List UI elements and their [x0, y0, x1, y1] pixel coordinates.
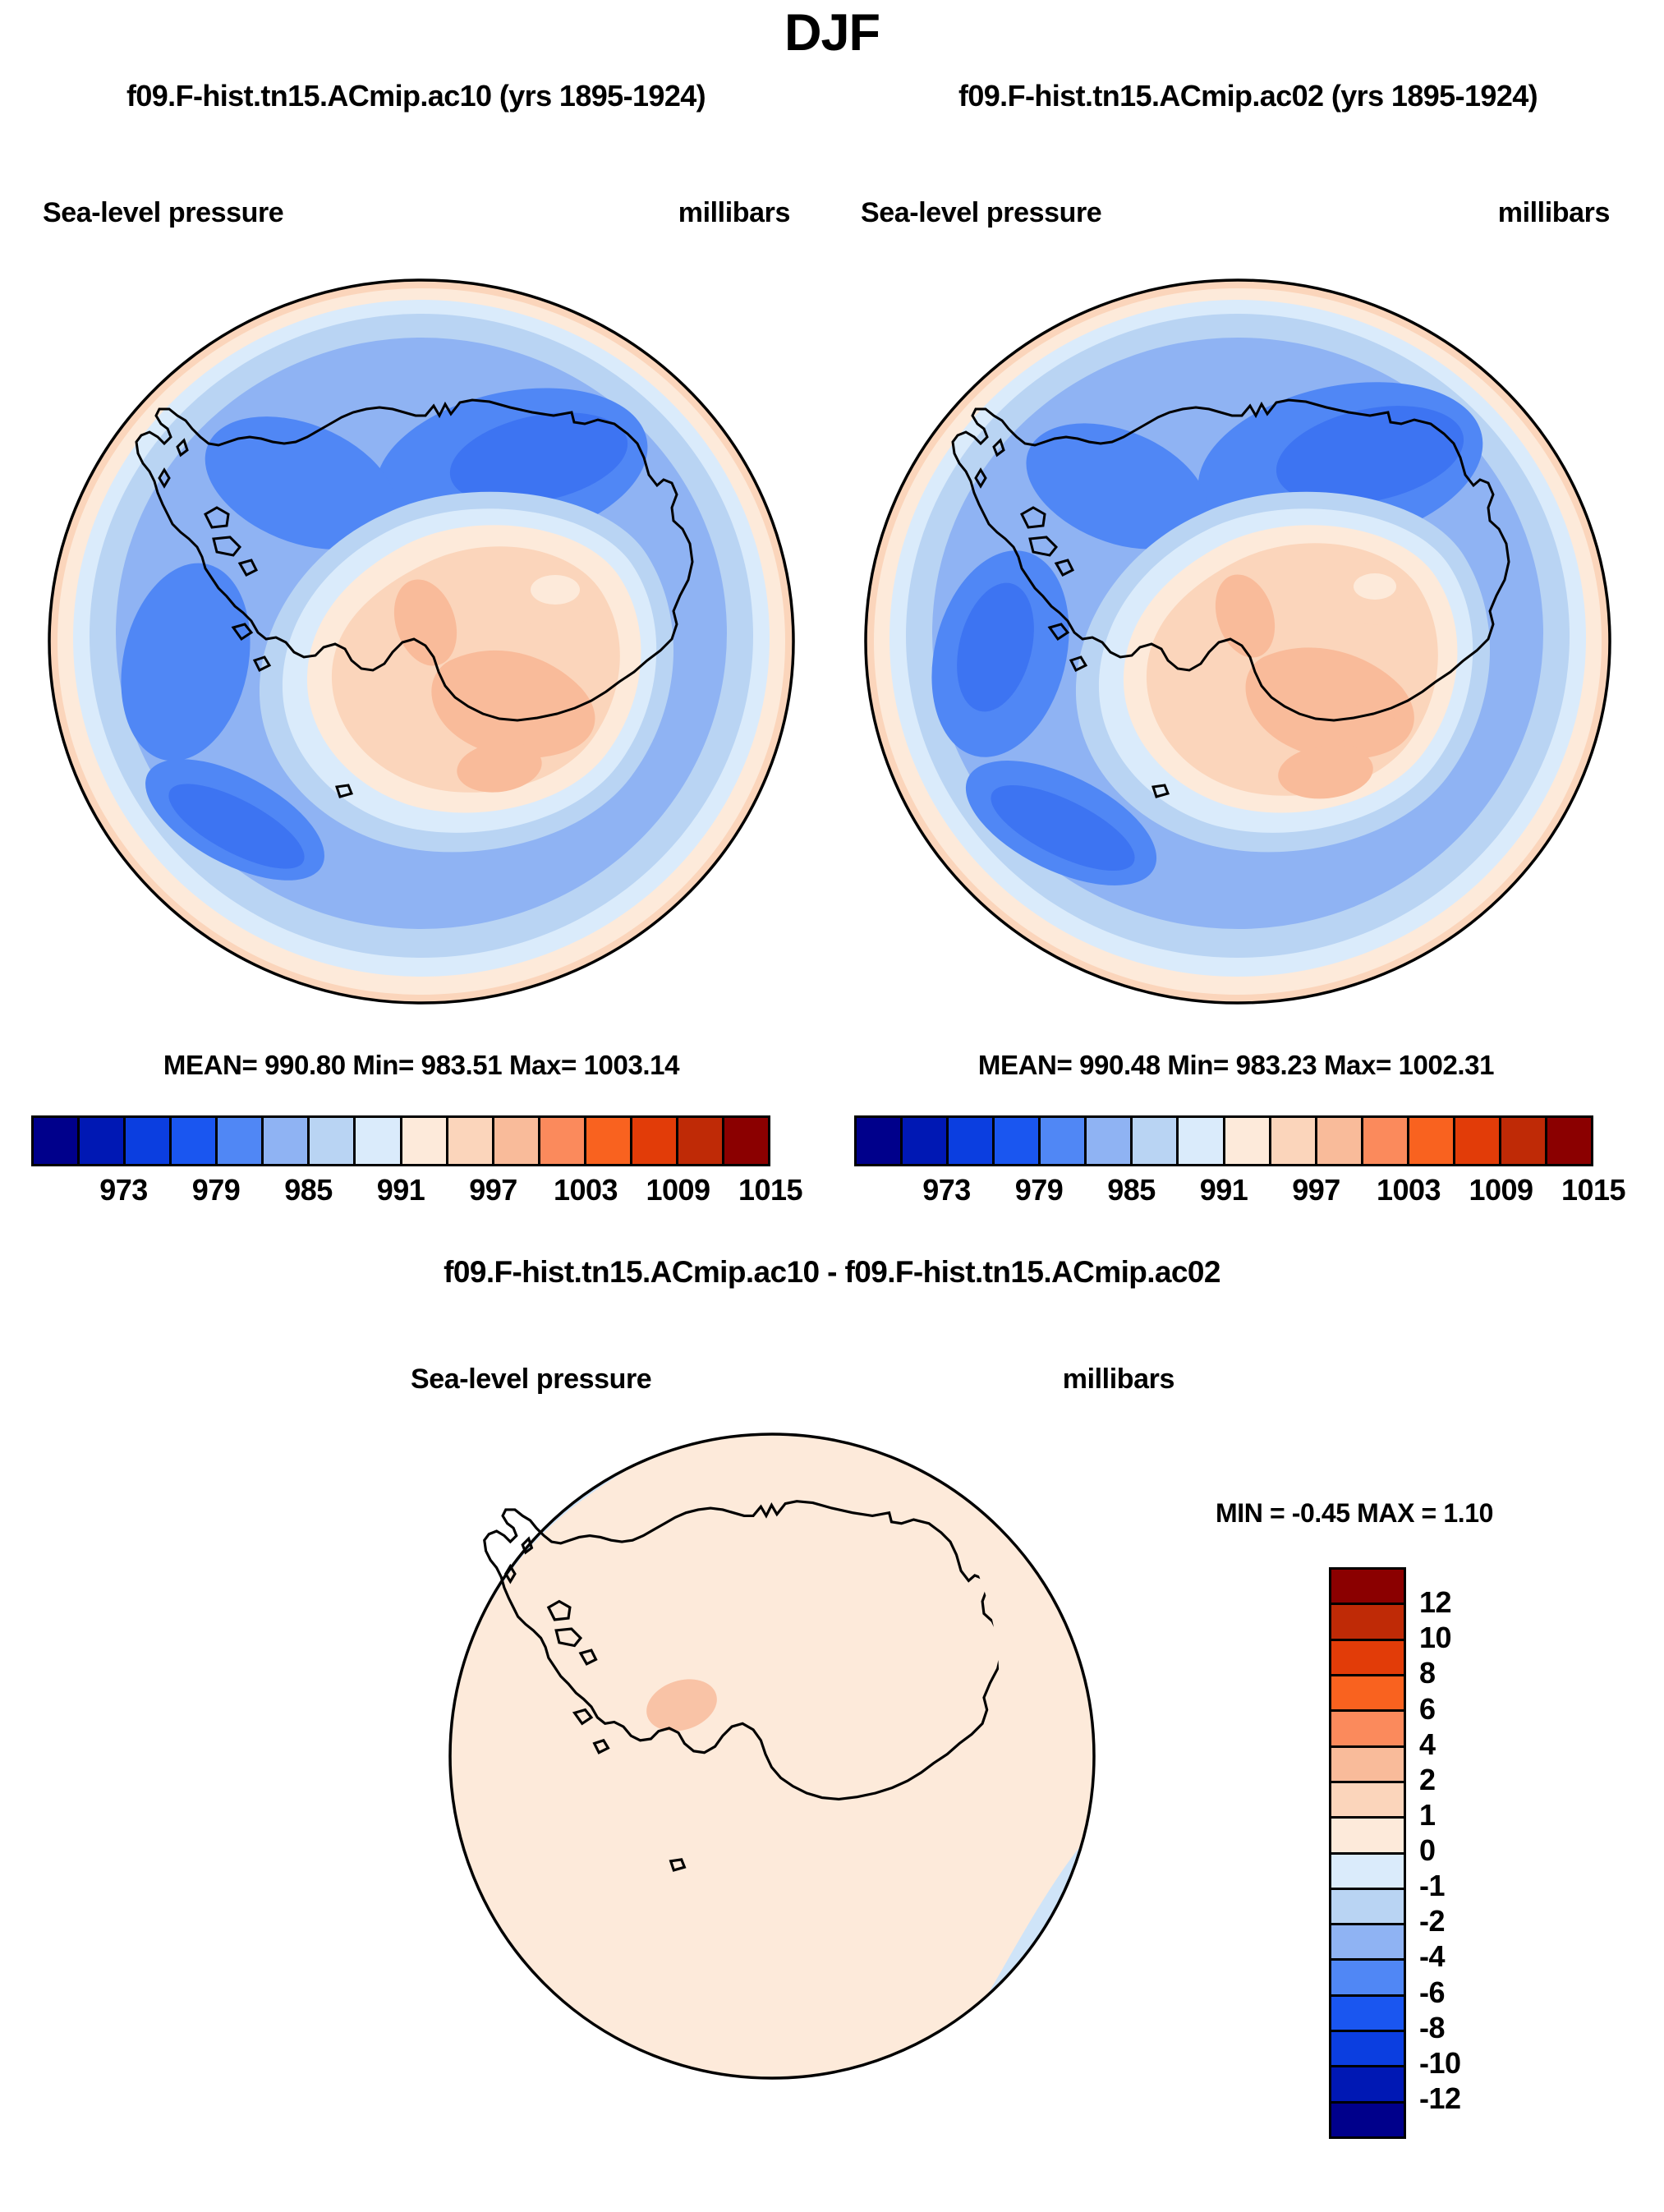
colorbar-tick-label: 12	[1419, 1585, 1451, 1620]
units-label-left: millibars	[678, 197, 790, 229]
colorbar-cell	[1331, 1676, 1404, 1712]
colorbar-cell	[1331, 1819, 1404, 1854]
colorbar-cell	[1501, 1118, 1547, 1164]
colorbar-cell	[1331, 1890, 1404, 1925]
colorbar-tick-label: 1015	[1561, 1173, 1625, 1207]
colorbar-tick-label: -4	[1419, 1939, 1445, 1974]
colorbar-tick-label: 973	[99, 1173, 148, 1207]
stats-left: MEAN= 990.80 Min= 983.51 Max= 1003.14	[39, 1050, 803, 1081]
map-diff	[444, 1428, 1109, 2093]
colorbar-tick-label: -2	[1419, 1904, 1445, 1938]
colorbar-tick-label: 2	[1419, 1763, 1436, 1797]
map-right	[856, 268, 1620, 1015]
colorbar-cell	[1409, 1118, 1455, 1164]
colorbar-tick-label: 997	[1292, 1173, 1340, 1207]
colorbar-tick-label: 1009	[1469, 1173, 1533, 1207]
colorbar-cell	[126, 1118, 172, 1164]
colorbar-tick-label: -6	[1419, 1975, 1445, 2010]
colorbar-tick-label: -8	[1419, 2011, 1445, 2045]
colorbar-cell	[903, 1118, 949, 1164]
colorbar-cell	[1041, 1118, 1087, 1164]
colorbar-cell	[1331, 1748, 1404, 1783]
colorbar-tick-label: 1003	[1377, 1173, 1441, 1207]
colorbar-cell	[1225, 1118, 1271, 1164]
colorbar-cell	[1331, 1925, 1404, 1961]
colorbar-tick-label: 985	[1107, 1173, 1156, 1207]
colorbar-cell	[1455, 1118, 1501, 1164]
colorbar-tick-label: 10	[1419, 1621, 1451, 1655]
colorbar-cell	[1179, 1118, 1225, 1164]
colorbar-tick-label: -10	[1419, 2046, 1461, 2081]
colorbar-cell	[1317, 1118, 1363, 1164]
units-label-right: millibars	[1498, 197, 1610, 229]
colorbar-cell	[995, 1118, 1041, 1164]
colorbar-cell	[949, 1118, 995, 1164]
colorbar-right-ticks: 973979985991997100310091015	[854, 1173, 1593, 1216]
colorbar-tick-label: 4	[1419, 1727, 1436, 1762]
colorbar-tick-label: 8	[1419, 1656, 1436, 1690]
colorbar-diff-cells	[1329, 1567, 1406, 2139]
variable-label-left: Sea-level pressure	[43, 197, 283, 229]
case-title-left: f09.F-hist.tn15.ACmip.ac10 (yrs 1895-192…	[0, 79, 832, 113]
map-left	[39, 268, 803, 1015]
figure-title: DJF	[0, 3, 1664, 62]
colorbar-diff: 1210864210-1-2-4-6-8-10-12	[1329, 1567, 1526, 2134]
colorbar-cell	[356, 1118, 402, 1164]
colorbar-cell	[586, 1118, 632, 1164]
colorbar-cell	[1331, 1783, 1404, 1819]
colorbar-cell	[1331, 1855, 1404, 1890]
colorbar-cell	[1331, 1641, 1404, 1676]
colorbar-right-cells	[854, 1115, 1593, 1166]
colorbar-tick-label: 1009	[646, 1173, 710, 1207]
colorbar-cell	[540, 1118, 586, 1164]
panel-header-diff: Sea-level pressure millibars	[411, 1364, 1174, 1396]
contour-fills-right	[856, 268, 1620, 1015]
colorbar-cell	[1331, 1570, 1404, 1605]
map-right-svg	[856, 268, 1620, 1015]
colorbar-cell	[402, 1118, 448, 1164]
colorbar-cell	[724, 1118, 768, 1164]
colorbar-tick-label: 1	[1419, 1798, 1436, 1833]
contour-fills-diff	[444, 1428, 1109, 2093]
map-diff-svg	[444, 1428, 1109, 2093]
case-title-row: f09.F-hist.tn15.ACmip.ac10 (yrs 1895-192…	[0, 79, 1664, 113]
figure-canvas: DJF f09.F-hist.tn15.ACmip.ac10 (yrs 1895…	[0, 0, 1664, 2212]
colorbar-cell	[1331, 1712, 1404, 1747]
colorbar-cell	[1271, 1118, 1317, 1164]
case-title-right: f09.F-hist.tn15.ACmip.ac02 (yrs 1895-192…	[832, 79, 1664, 113]
colorbar-cell	[1331, 2067, 1404, 2103]
colorbar-tick-label: 985	[284, 1173, 333, 1207]
stats-right: MEAN= 990.48 Min= 983.23 Max= 1002.31	[854, 1050, 1618, 1081]
units-label-diff: millibars	[1063, 1364, 1174, 1396]
colorbar-tick-label: 6	[1419, 1692, 1436, 1727]
panel-header-left: Sea-level pressure millibars	[43, 197, 790, 229]
colorbar-right: 973979985991997100310091015	[854, 1115, 1593, 1216]
colorbar-cell	[632, 1118, 678, 1164]
colorbar-tick-label: 1003	[554, 1173, 618, 1207]
colorbar-cell	[264, 1118, 310, 1164]
colorbar-cell	[1331, 1961, 1404, 1996]
variable-label-right: Sea-level pressure	[861, 197, 1101, 229]
colorbar-left: 973979985991997100310091015	[31, 1115, 770, 1216]
colorbar-tick-label: 991	[1200, 1173, 1248, 1207]
colorbar-tick-label: 997	[469, 1173, 517, 1207]
map-left-svg	[39, 268, 803, 1015]
colorbar-tick-label: 1015	[738, 1173, 802, 1207]
colorbar-cell	[172, 1118, 218, 1164]
colorbar-cell	[310, 1118, 356, 1164]
colorbar-left-cells	[31, 1115, 770, 1166]
colorbar-cell	[494, 1118, 540, 1164]
colorbar-tick-label: 979	[192, 1173, 241, 1207]
colorbar-cell	[1547, 1118, 1591, 1164]
colorbar-tick-label: 0	[1419, 1833, 1436, 1868]
colorbar-tick-label: 973	[922, 1173, 971, 1207]
contour-fills-left	[39, 268, 803, 1015]
colorbar-cell	[678, 1118, 724, 1164]
colorbar-cell	[1133, 1118, 1179, 1164]
colorbar-left-ticks: 973979985991997100310091015	[31, 1173, 770, 1216]
colorbar-cell	[1363, 1118, 1409, 1164]
colorbar-tick-label: -12	[1419, 2081, 1461, 2116]
colorbar-cell	[218, 1118, 264, 1164]
colorbar-cell	[1331, 2104, 1404, 2136]
colorbar-diff-ticks: 1210864210-1-2-4-6-8-10-12	[1419, 1567, 1526, 2134]
colorbar-cell	[1331, 1605, 1404, 1640]
colorbar-cell	[857, 1118, 903, 1164]
panel-header-right: Sea-level pressure millibars	[861, 197, 1610, 229]
colorbar-cell	[1331, 1997, 1404, 2032]
colorbar-cell	[1331, 2032, 1404, 2067]
diff-minmax-label: MIN = -0.45 MAX = 1.10	[1216, 1498, 1493, 1529]
colorbar-cell	[34, 1118, 80, 1164]
colorbar-tick-label: 991	[377, 1173, 425, 1207]
colorbar-cell	[1087, 1118, 1133, 1164]
colorbar-tick-label: -1	[1419, 1869, 1445, 1903]
diff-case-title: f09.F-hist.tn15.ACmip.ac10 - f09.F-hist.…	[0, 1255, 1664, 1290]
variable-label-diff: Sea-level pressure	[411, 1364, 651, 1396]
colorbar-tick-label: 979	[1015, 1173, 1064, 1207]
colorbar-cell	[80, 1118, 126, 1164]
colorbar-cell	[448, 1118, 494, 1164]
